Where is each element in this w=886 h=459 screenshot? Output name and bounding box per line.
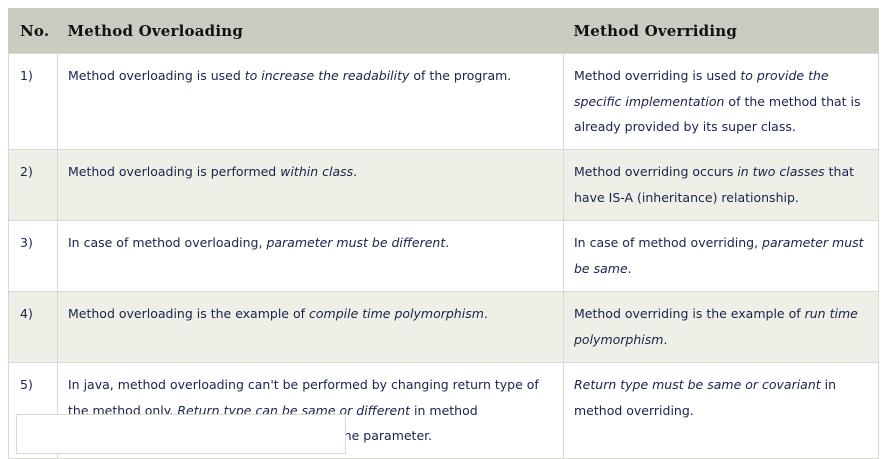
page-container: No. Method Overloading Method Overriding… bbox=[0, 0, 886, 425]
plain-text: Method overloading is used bbox=[68, 68, 245, 83]
cell-method-overriding: Method overriding is the example of run … bbox=[564, 291, 879, 362]
table-header-row: No. Method Overloading Method Overriding bbox=[9, 9, 879, 54]
cell-row-number: 2) bbox=[9, 149, 58, 220]
emphasized-text: Return type must be same or covariant bbox=[574, 377, 821, 392]
plain-text: . bbox=[353, 164, 357, 179]
plain-text: of the program. bbox=[409, 68, 511, 83]
emphasized-text: to increase the readability bbox=[245, 68, 410, 83]
plain-text: Method overriding occurs bbox=[574, 164, 737, 179]
table-row: 3)In case of method overloading, paramet… bbox=[9, 220, 879, 291]
emphasized-text: parameter must be different bbox=[266, 235, 445, 250]
table-header: No. Method Overloading Method Overriding bbox=[9, 9, 879, 54]
cell-row-number: 3) bbox=[9, 220, 58, 291]
cell-method-overloading: Method overloading is performed within c… bbox=[58, 149, 564, 220]
cell-method-overriding: In case of method overriding, parameter … bbox=[564, 220, 879, 291]
plain-text: In case of method overloading, bbox=[68, 235, 266, 250]
plain-text: . bbox=[445, 235, 449, 250]
column-header-method-overriding: Method Overriding bbox=[564, 9, 879, 54]
plain-text: . bbox=[484, 306, 488, 321]
table-row: 4)Method overloading is the example of c… bbox=[9, 291, 879, 362]
cell-method-overriding: Method overriding is used to provide the… bbox=[564, 54, 879, 150]
below-table-partial-box bbox=[16, 414, 346, 454]
emphasized-text: in two classes bbox=[737, 164, 824, 179]
table-body: 1)Method overloading is used to increase… bbox=[9, 54, 879, 459]
plain-text: Method overriding is used bbox=[574, 68, 740, 83]
table-row: 1)Method overloading is used to increase… bbox=[9, 54, 879, 150]
table-row: 2)Method overloading is performed within… bbox=[9, 149, 879, 220]
column-header-method-overloading: Method Overloading bbox=[58, 9, 564, 54]
plain-text: . bbox=[663, 332, 667, 347]
cell-method-overloading: Method overloading is used to increase t… bbox=[58, 54, 564, 150]
emphasized-text: compile time polymorphism bbox=[309, 306, 484, 321]
cell-method-overriding: Method overriding occurs in two classes … bbox=[564, 149, 879, 220]
cell-method-overloading: In case of method overloading, parameter… bbox=[58, 220, 564, 291]
emphasized-text: within class bbox=[280, 164, 353, 179]
plain-text: In case of method overriding, bbox=[574, 235, 762, 250]
cell-method-overloading: Method overloading is the example of com… bbox=[58, 291, 564, 362]
cell-row-number: 1) bbox=[9, 54, 58, 150]
cell-method-overriding: Return type must be same or covariant in… bbox=[564, 362, 879, 458]
plain-text: Method overloading is performed bbox=[68, 164, 280, 179]
comparison-table: No. Method Overloading Method Overriding… bbox=[8, 8, 879, 459]
plain-text: Method overriding is the example of bbox=[574, 306, 805, 321]
plain-text: . bbox=[628, 261, 632, 276]
plain-text: Method overloading is the example of bbox=[68, 306, 309, 321]
cell-row-number: 4) bbox=[9, 291, 58, 362]
column-header-no: No. bbox=[9, 9, 58, 54]
